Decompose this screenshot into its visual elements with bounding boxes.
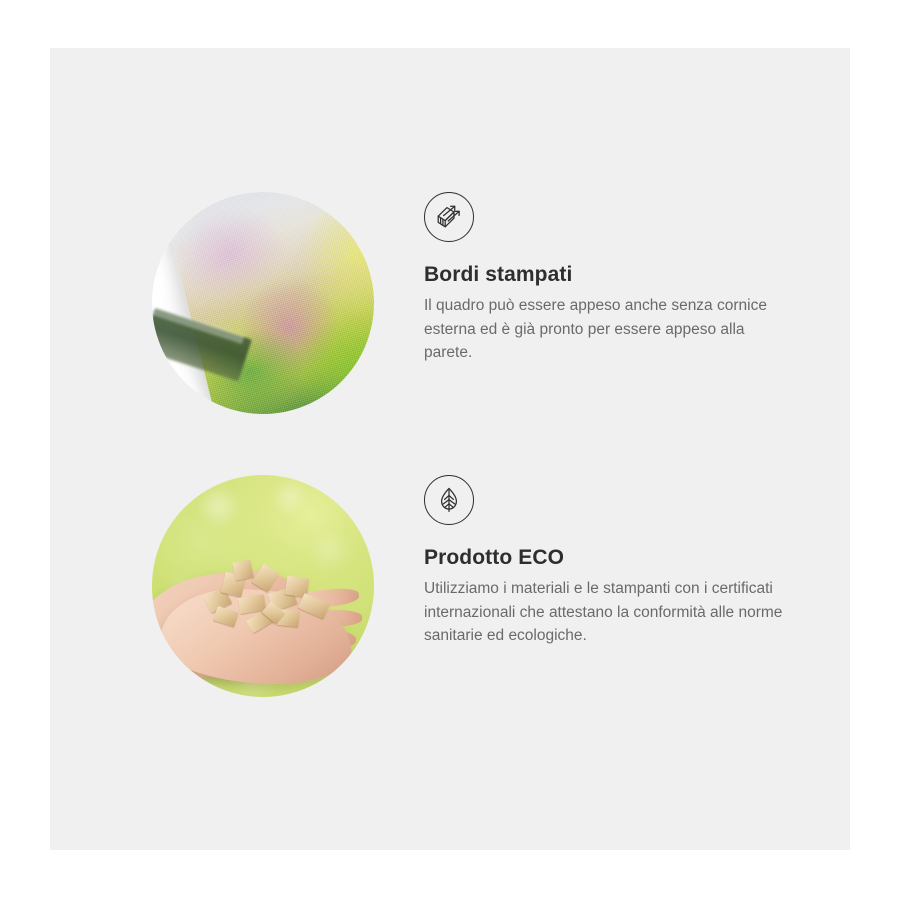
eco-photo-circle <box>152 475 374 697</box>
leaf-icon <box>424 475 474 525</box>
wood-chips-hands-photo <box>152 475 374 697</box>
feature-eco-product: Prodotto ECO Utilizziamo i materiali e l… <box>50 475 850 745</box>
canvas-photo-circle <box>152 192 374 414</box>
wood-chip <box>251 564 279 593</box>
wood-chip <box>232 559 253 580</box>
wood-chips-pile <box>201 559 339 639</box>
eco-product-text-block: Prodotto ECO Utilizziamo i materiali e l… <box>424 475 804 648</box>
feature-description: Utilizziamo i materiali e le stampanti c… <box>424 577 794 648</box>
canvas-weave-texture <box>163 192 374 414</box>
feature-title: Prodotto ECO <box>424 545 804 570</box>
feature-description: Il quadro può essere appeso anche senza … <box>424 294 794 365</box>
product-feature-page: Bordi stampati Il quadro può essere appe… <box>0 0 900 900</box>
wood-chip <box>213 606 239 627</box>
printed-edges-text-block: Bordi stampati Il quadro può essere appe… <box>424 192 804 365</box>
printed-edges-icon <box>424 192 474 242</box>
content-panel: Bordi stampati Il quadro può essere appe… <box>50 48 850 850</box>
feature-title: Bordi stampati <box>424 262 804 287</box>
canvas-corner-photo <box>152 192 374 414</box>
canvas-block <box>163 192 374 414</box>
feature-printed-edges: Bordi stampati Il quadro può essere appe… <box>50 192 850 462</box>
wood-chip <box>298 593 330 619</box>
